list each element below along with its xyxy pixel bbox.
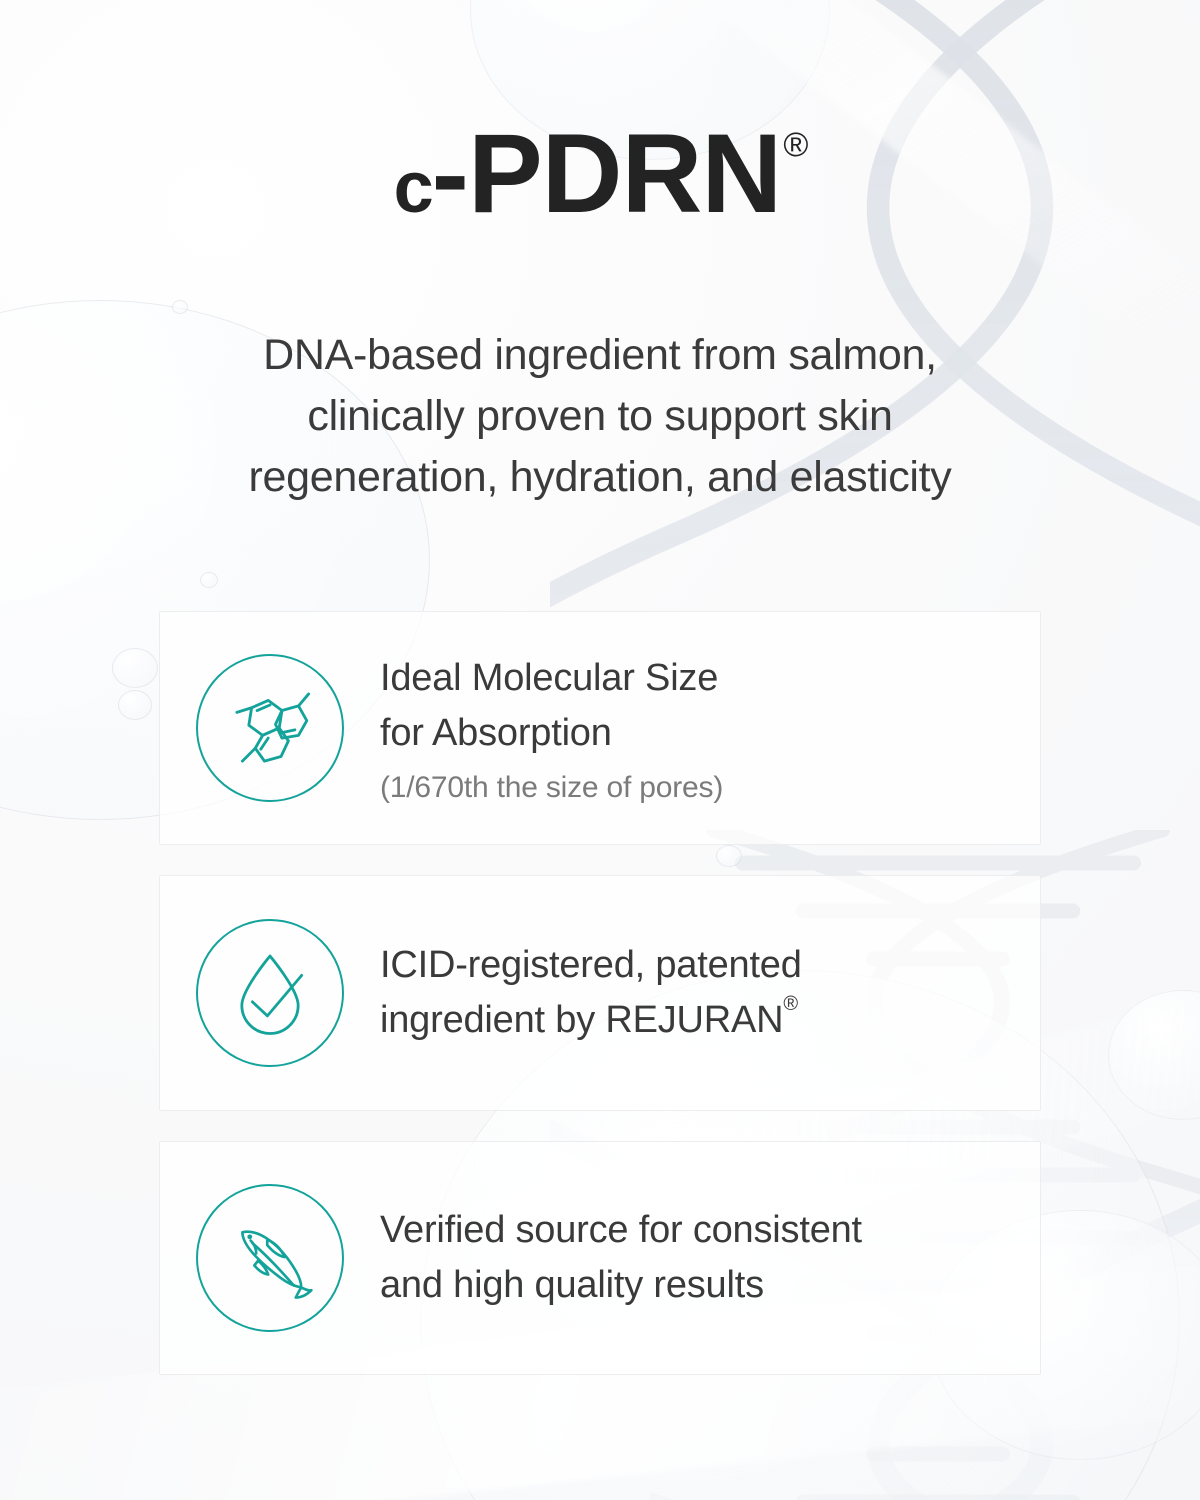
- feature-card-title: Ideal Molecular Size for Absorption: [380, 651, 1010, 762]
- page-subtitle-line-3: regeneration, hydration, and elasticity: [248, 453, 951, 501]
- page-subtitle-line-1: DNA-based ingredient from salmon,: [263, 331, 937, 379]
- feature-title-line-2: and high quality results: [380, 1264, 764, 1306]
- droplet-check-icon: [226, 949, 314, 1037]
- fish-icon: [224, 1212, 316, 1304]
- registered-trademark-icon: ®: [783, 126, 808, 164]
- feature-card-molecular-size: Ideal Molecular Size for Absorption (1/6…: [159, 611, 1041, 845]
- feature-card-list: Ideal Molecular Size for Absorption (1/6…: [159, 611, 1041, 1375]
- feature-icon-wrap: [160, 1184, 380, 1332]
- feature-title-line-2: ingredient by REJURAN: [380, 999, 783, 1041]
- page-subtitle-line-2: clinically proven to support skin: [307, 392, 892, 440]
- page-subtitle: DNA-based ingredient from salmon, clinic…: [130, 325, 1070, 508]
- page-title-prefix: c: [394, 148, 432, 228]
- feature-icon-wrap: [160, 919, 380, 1067]
- icon-circle: [196, 1184, 344, 1332]
- feature-card-text: ICID-registered, patented ingredient by …: [380, 938, 1040, 1049]
- feature-card-verified-source: Verified source for consistent and high …: [159, 1141, 1041, 1375]
- feature-card-icid-registered: ICID-registered, patented ingredient by …: [159, 875, 1041, 1111]
- feature-card-title: Verified source for consistent and high …: [380, 1203, 1010, 1314]
- icon-circle: [196, 919, 344, 1067]
- molecule-icon: [224, 682, 316, 774]
- feature-title-line-2: for Absorption: [380, 712, 612, 754]
- registered-trademark-icon: ®: [783, 993, 798, 1015]
- page-title-main: -PDRN: [432, 111, 782, 236]
- icon-circle: [196, 654, 344, 802]
- feature-card-text: Verified source for consistent and high …: [380, 1203, 1040, 1314]
- feature-title-line-1: Ideal Molecular Size: [380, 657, 718, 699]
- feature-title-line-1: ICID-registered, patented: [380, 944, 802, 986]
- feature-card-note: (1/670th the size of pores): [380, 771, 1010, 805]
- feature-title-line-1: Verified source for consistent: [380, 1209, 862, 1251]
- feature-card-text: Ideal Molecular Size for Absorption (1/6…: [380, 651, 1040, 806]
- page-title: c-PDRN®: [0, 118, 1200, 230]
- ingredient-infographic: c-PDRN® DNA-based ingredient from salmon…: [0, 0, 1200, 1500]
- feature-icon-wrap: [160, 654, 380, 802]
- feature-card-title: ICID-registered, patented ingredient by …: [380, 938, 1010, 1049]
